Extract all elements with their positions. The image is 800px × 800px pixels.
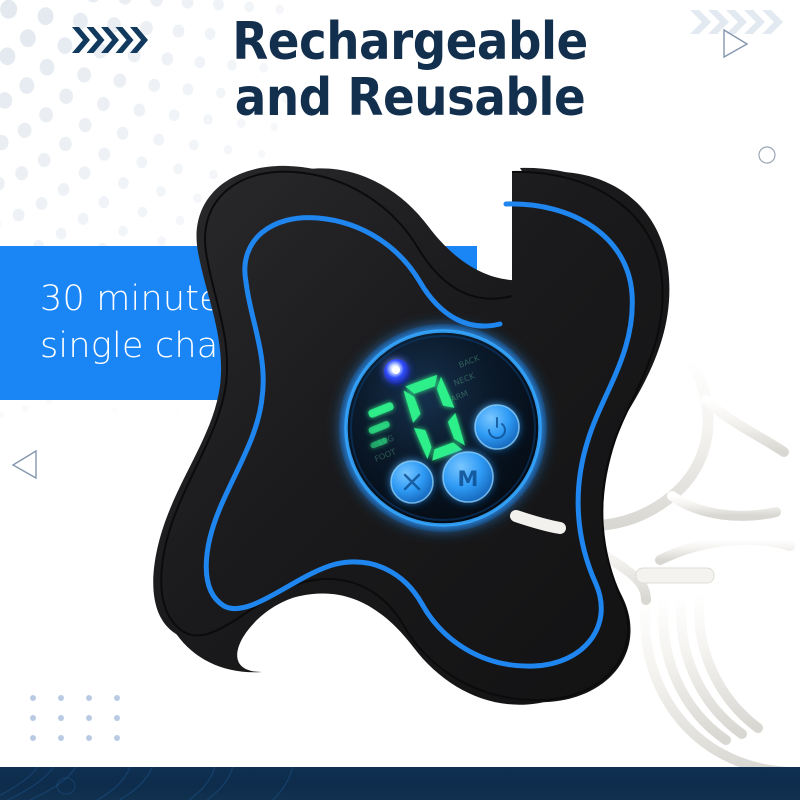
control-panel: BACK NECK ARM LEG FOOT xyxy=(339,324,547,532)
mode-button[interactable]: M xyxy=(443,452,493,502)
svg-text:M: M xyxy=(458,467,479,491)
product-banner-canvas: Rechargeable and Reusable xyxy=(0,0,800,800)
intensity-button[interactable] xyxy=(391,461,433,503)
product-image-mini-massager: BACK NECK ARM LEG FOOT xyxy=(0,0,800,800)
led-indicator xyxy=(384,359,410,385)
bottom-bar-texture xyxy=(0,767,800,800)
bottom-accent-bar xyxy=(0,767,800,800)
power-button[interactable] xyxy=(475,405,519,449)
